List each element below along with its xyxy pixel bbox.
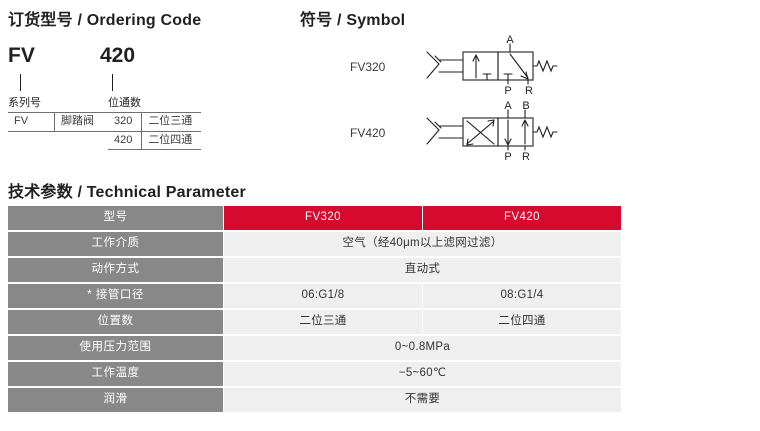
- row-label: 使用压力范围: [8, 336, 224, 362]
- symbol-port-label-a: A: [504, 100, 512, 112]
- ordering-code-heading: 订货型号 / Ordering Code: [8, 6, 201, 30]
- ordering-group-label-series: 系列号: [8, 94, 123, 112]
- ordering-code-section: 订货型号 / Ordering Code FV 420 系列号 FV 脚踏阀 位…: [8, 6, 201, 154]
- technical-parameter-table: 型号 FV320 FV420 工作介质 空气（经40μm以上滤网过滤） 动作方式…: [8, 206, 622, 412]
- symbol-port-label-r: R: [525, 85, 533, 96]
- row-label: 润滑: [8, 388, 224, 412]
- ordering-group-series: 系列号 FV 脚踏阀: [8, 94, 123, 132]
- symbol-label-fv420: FV420: [350, 126, 385, 140]
- ordering-table-series: FV 脚踏阀: [8, 112, 123, 132]
- symbol-port-label-b: B: [522, 100, 529, 112]
- ordering-group-label-ports: 位通数: [108, 94, 201, 112]
- table-header-label: 型号: [8, 206, 224, 232]
- symbol-label-fv320: FV320: [350, 60, 385, 74]
- table-row: 320 二位三通: [108, 113, 201, 132]
- ordering-table-ports: 320 二位三通 420 二位四通: [108, 112, 201, 150]
- symbol-port-label-p: P: [504, 151, 511, 162]
- row-value: −5~60℃: [224, 362, 622, 388]
- table-row: 使用压力范围 0~0.8MPa: [8, 336, 622, 362]
- row-value: 08:G1/4: [423, 284, 622, 310]
- row-value: 06:G1/8: [224, 284, 423, 310]
- table-header-fv320: FV320: [224, 206, 423, 232]
- technical-parameter-heading: 技术参数 / Technical Parameter: [8, 178, 246, 202]
- table-row: 工作介质 空气（经40μm以上滤网过滤）: [8, 232, 622, 258]
- symbol-section: 符号 / Symbol: [300, 6, 405, 30]
- symbol-diagram-fv320: A P R: [425, 34, 565, 96]
- ordering-cell-code: FV: [8, 113, 55, 132]
- row-value: 0~0.8MPa: [224, 336, 622, 362]
- ordering-cell-code: 320: [108, 113, 142, 132]
- table-row: 动作方式 直动式: [8, 258, 622, 284]
- ordering-cell-desc: 二位三通: [142, 113, 202, 132]
- table-header-row: 型号 FV320 FV420: [8, 206, 622, 232]
- row-label: 工作介质: [8, 232, 224, 258]
- symbol-port-label-a: A: [506, 34, 514, 46]
- row-label: 动作方式: [8, 258, 224, 284]
- row-value: 空气（经40μm以上滤网过滤）: [224, 232, 622, 258]
- ordering-group-ports: 位通数 320 二位三通 420 二位四通: [108, 94, 201, 150]
- table-row: 420 二位四通: [108, 131, 201, 150]
- ordering-code-part-series: FV: [8, 44, 35, 68]
- symbol-heading: 符号 / Symbol: [300, 6, 405, 30]
- table-row: 位置数 二位三通 二位四通: [8, 310, 622, 336]
- row-label: 位置数: [8, 310, 224, 336]
- connector-line-series: [20, 74, 21, 91]
- table-row: 工作温度 −5~60℃: [8, 362, 622, 388]
- ordering-code-part-ports: 420: [100, 44, 135, 68]
- connector-line-ports: [112, 74, 113, 91]
- row-value: 直动式: [224, 258, 622, 284]
- table-row: FV 脚踏阀: [8, 113, 123, 132]
- row-label: 工作温度: [8, 362, 224, 388]
- table-row: * 接管口径 06:G1/8 08:G1/4: [8, 284, 622, 310]
- row-value: 二位三通: [224, 310, 423, 336]
- symbol-port-label-p: P: [504, 85, 511, 96]
- ordering-cell-code: 420: [108, 131, 142, 150]
- symbol-port-label-r: R: [522, 151, 530, 162]
- symbol-diagram-fv420: A B P R: [425, 100, 565, 162]
- table-header-fv420: FV420: [423, 206, 622, 232]
- row-value: 不需要: [224, 388, 622, 412]
- row-value: 二位四通: [423, 310, 622, 336]
- table-row: 润滑 不需要: [8, 388, 622, 412]
- ordering-cell-desc: 二位四通: [142, 131, 202, 150]
- row-label: * 接管口径: [8, 284, 224, 310]
